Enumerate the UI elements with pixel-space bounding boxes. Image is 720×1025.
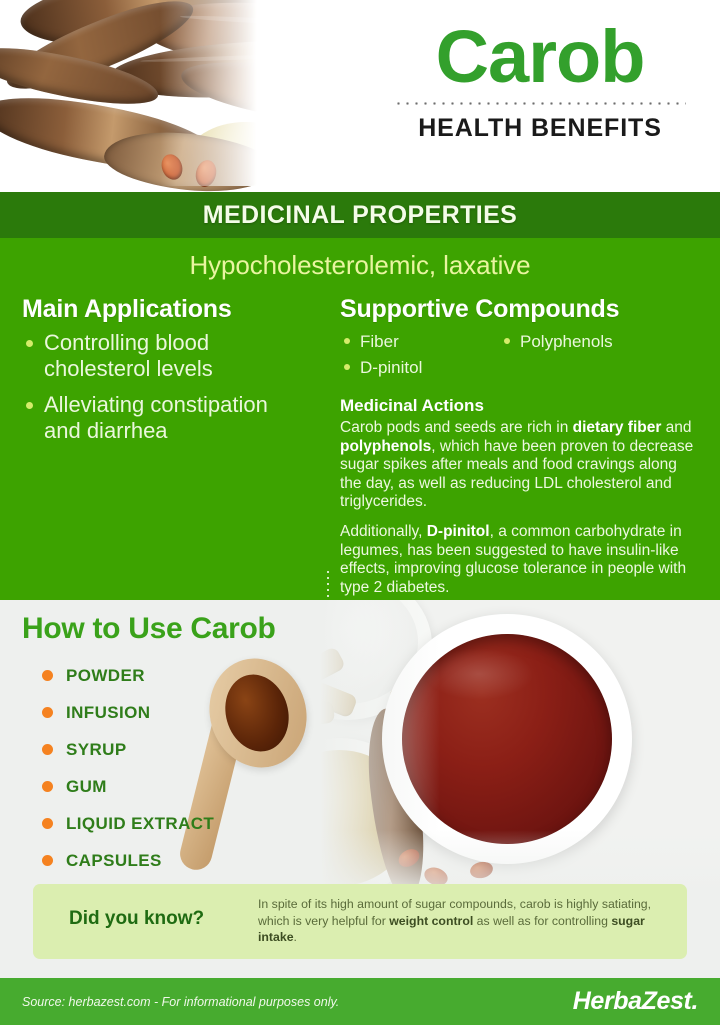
medicinal-actions-paragraph-1: Carob pods and seeds are rich in dietary…: [340, 419, 698, 512]
did-you-know-text: In spite of its high amount of sugar com…: [258, 896, 663, 946]
carob-products-photo: [320, 600, 720, 900]
medicinal-properties-banner: MEDICINAL PROPERTIES: [0, 192, 720, 238]
page-title: Carob: [380, 16, 700, 98]
how-to-use-heading: How to Use Carob: [22, 612, 276, 646]
properties-line: Hypocholesterolemic, laxative: [0, 238, 720, 281]
dotted-divider: [394, 102, 686, 105]
list-item: GUM: [42, 777, 214, 797]
footer-bar: Source: herbazest.com - For informationa…: [0, 978, 720, 1025]
list-item: Polyphenols: [500, 330, 660, 353]
how-to-use-list: POWDER INFUSION SYRUP GUM LIQUID EXTRACT…: [42, 666, 214, 888]
list-item: CAPSULES: [42, 851, 214, 871]
infographic-page: Carob HEALTH BENEFITS MEDICINAL PROPERTI…: [0, 0, 720, 1025]
brand-logo: HerbaZest.: [573, 987, 698, 1016]
source-note: Source: herbazest.com - For informationa…: [22, 995, 339, 1009]
supportive-compounds-list: Fiber Polyphenols D-pinitol: [340, 330, 698, 382]
medicinal-properties-title: MEDICINAL PROPERTIES: [203, 201, 518, 230]
supportive-compounds-column: Supportive Compounds Fiber Polyphenols D…: [322, 295, 720, 608]
main-applications-heading: Main Applications: [22, 295, 310, 324]
did-you-know-box: Did you know? In spite of its high amoun…: [33, 884, 687, 959]
medicinal-columns: Main Applications Controlling blood chol…: [0, 281, 720, 608]
hero-title-block: Carob HEALTH BENEFITS: [380, 16, 700, 143]
list-item: Fiber: [340, 330, 500, 353]
main-applications-column: Main Applications Controlling blood chol…: [0, 295, 322, 608]
page-subtitle: HEALTH BENEFITS: [380, 114, 700, 143]
list-item: Controlling blood cholesterol levels: [22, 330, 310, 382]
medicinal-actions-paragraph-2: Additionally, D-pinitol, a common carboh…: [340, 523, 698, 597]
main-applications-list: Controlling blood cholesterol levels All…: [22, 330, 310, 444]
did-you-know-title: Did you know?: [69, 908, 204, 930]
supportive-compounds-heading: Supportive Compounds: [340, 295, 698, 324]
list-item: Alleviating constipation and diarrhea: [22, 392, 310, 444]
list-item: D-pinitol: [340, 356, 500, 379]
list-item: SYRUP: [42, 740, 214, 760]
carob-pods-photo: [0, 0, 390, 192]
medicinal-actions-heading: Medicinal Actions: [340, 396, 698, 416]
medicinal-properties-section: MEDICINAL PROPERTIES Hypocholesterolemic…: [0, 192, 720, 600]
list-item: INFUSION: [42, 703, 214, 723]
hero-section: Carob HEALTH BENEFITS: [0, 0, 720, 192]
list-item: LIQUID EXTRACT: [42, 814, 214, 834]
list-item: POWDER: [42, 666, 214, 686]
